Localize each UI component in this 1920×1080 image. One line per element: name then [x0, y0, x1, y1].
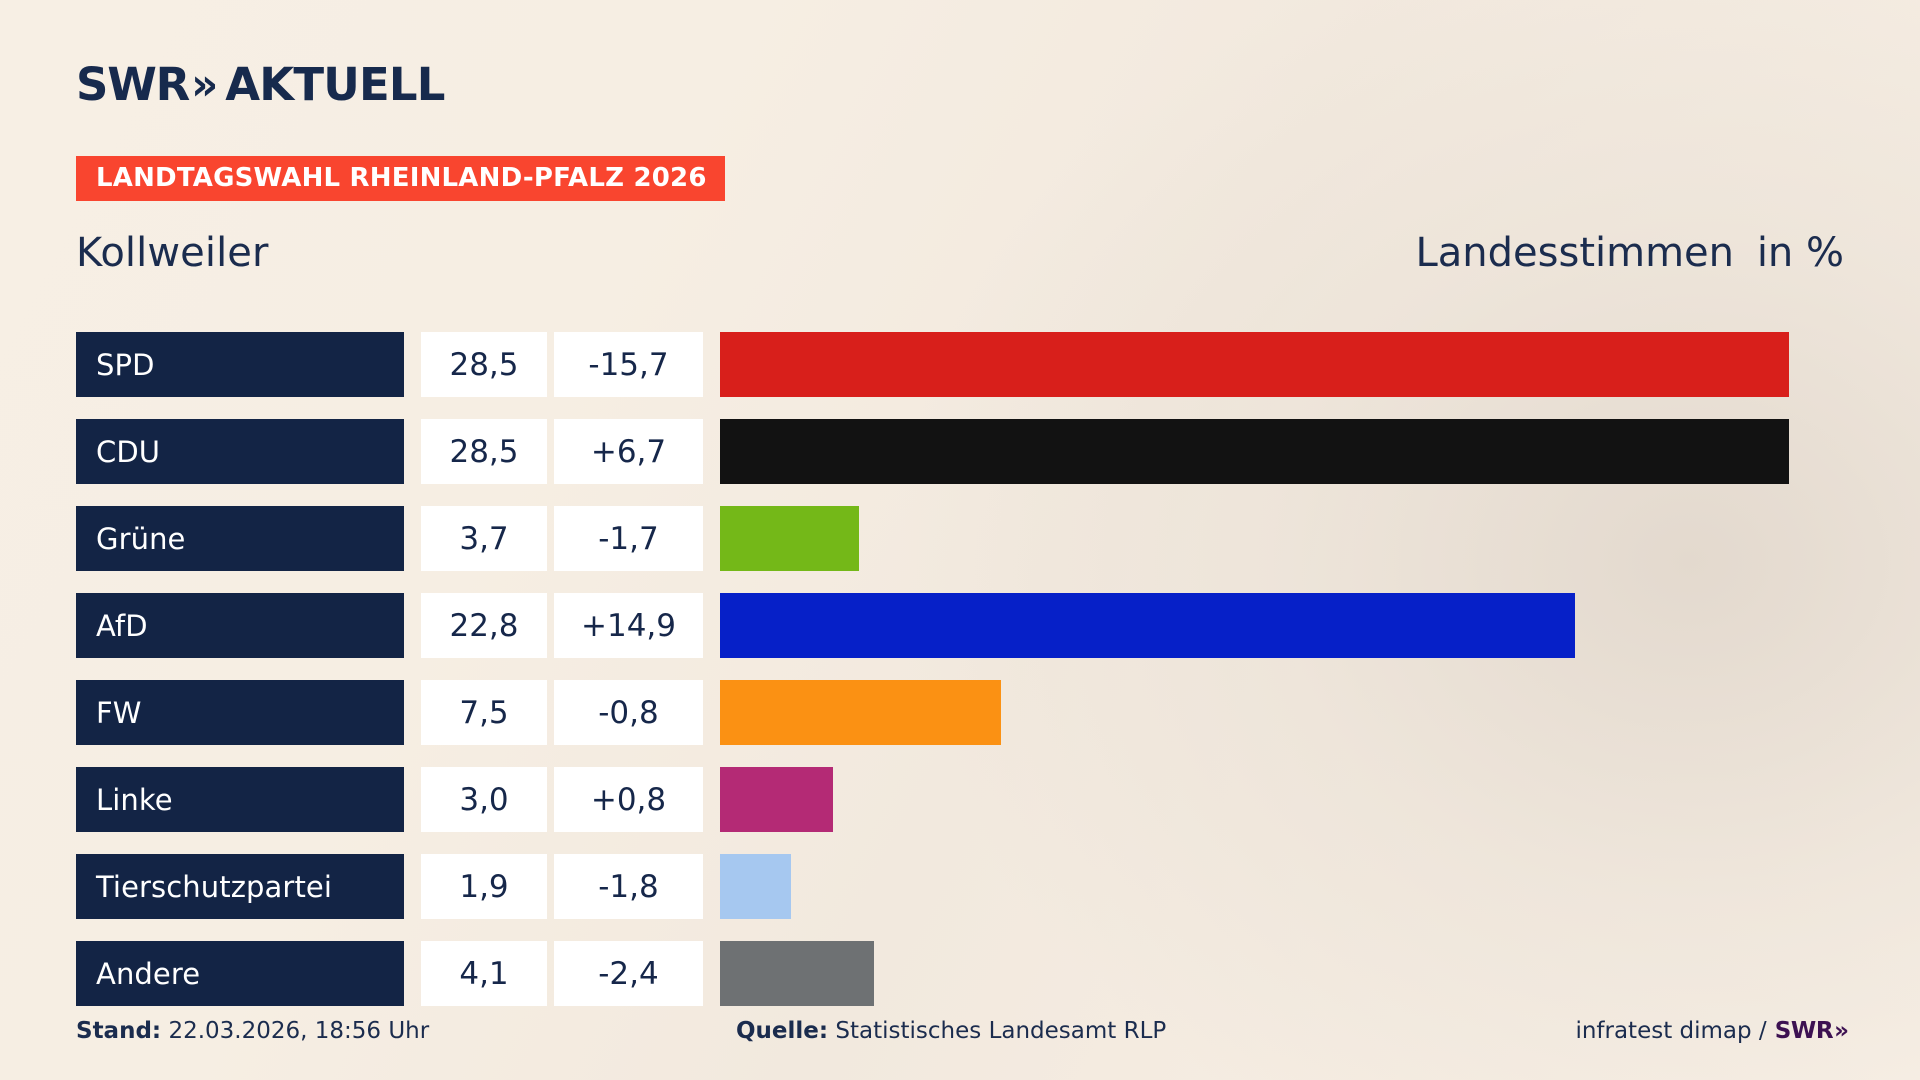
table-row: Tierschutzpartei1,9-1,8	[76, 854, 1920, 919]
aktuell-wordmark: AKTUELL	[225, 62, 444, 107]
vote-type-label: Landesstimmen	[1415, 226, 1734, 280]
party-bar	[720, 941, 874, 1006]
bar-track	[720, 593, 1920, 658]
unit-label: in %	[1757, 226, 1844, 280]
election-banner: LANDTAGSWAHL RHEINLAND-PFALZ 2026	[76, 156, 725, 201]
table-row: SPD28,5-15,7	[76, 332, 1920, 397]
credit-agency: infratest dimap /	[1575, 1018, 1766, 1044]
bar-track	[720, 680, 1920, 745]
double-chevron-icon: »	[191, 62, 211, 106]
party-share-value: 3,0	[421, 767, 547, 832]
table-row: Andere4,1-2,4	[76, 941, 1920, 1006]
quelle-label: Quelle:	[736, 1018, 828, 1044]
results-table: SPD28,5-15,7CDU28,5+6,7Grüne3,7-1,7AfD22…	[76, 332, 1920, 1006]
footer: Stand: 22.03.2026, 18:56 Uhr Quelle: Sta…	[76, 1018, 1844, 1052]
party-change-value: -1,8	[554, 854, 703, 919]
credit-swr-text: SWR	[1775, 1018, 1833, 1044]
table-row: FW7,5-0,8	[76, 680, 1920, 745]
party-bar	[720, 680, 1001, 745]
bar-track	[720, 854, 1920, 919]
subheader: Kollweiler Landesstimmen in %	[76, 226, 1844, 288]
party-bar	[720, 332, 1789, 397]
stand-value: 22.03.2026, 18:56 Uhr	[168, 1018, 429, 1044]
party-bar	[720, 767, 833, 832]
party-bar	[720, 419, 1789, 484]
bar-track	[720, 941, 1920, 1006]
quelle-info: Quelle: Statistisches Landesamt RLP	[736, 1018, 1166, 1044]
credit-swr-logo: SWR»	[1775, 1018, 1844, 1044]
party-name: Andere	[76, 941, 404, 1006]
party-name: SPD	[76, 332, 404, 397]
party-name: Tierschutzpartei	[76, 854, 404, 919]
party-share-value: 3,7	[421, 506, 547, 571]
party-share-value: 7,5	[421, 680, 547, 745]
party-name: FW	[76, 680, 404, 745]
stand-info: Stand: 22.03.2026, 18:56 Uhr	[76, 1018, 429, 1044]
party-share-value: 4,1	[421, 941, 547, 1006]
table-row: AfD22,8+14,9	[76, 593, 1920, 658]
infographic-stage: SWR » AKTUELL LANDTAGSWAHL RHEINLAND-PFA…	[0, 0, 1920, 1080]
party-change-value: +0,8	[554, 767, 703, 832]
party-change-value: +14,9	[554, 593, 703, 658]
party-change-value: +6,7	[554, 419, 703, 484]
bar-track	[720, 506, 1920, 571]
party-change-value: -1,7	[554, 506, 703, 571]
swr-aktuell-logo: SWR » AKTUELL	[76, 62, 445, 107]
quelle-value: Statistisches Landesamt RLP	[835, 1018, 1166, 1044]
table-row: CDU28,5+6,7	[76, 419, 1920, 484]
place-name: Kollweiler	[76, 226, 269, 280]
credit-chevron-icon: »	[1834, 1018, 1844, 1044]
table-row: Linke3,0+0,8	[76, 767, 1920, 832]
party-share-value: 28,5	[421, 419, 547, 484]
party-name: Linke	[76, 767, 404, 832]
party-bar	[720, 506, 859, 571]
party-share-value: 22,8	[421, 593, 547, 658]
credit: infratest dimap / SWR»	[1575, 1018, 1844, 1044]
bar-track	[720, 332, 1920, 397]
party-change-value: -15,7	[554, 332, 703, 397]
party-share-value: 1,9	[421, 854, 547, 919]
stand-label: Stand:	[76, 1018, 161, 1044]
party-name: Grüne	[76, 506, 404, 571]
bar-track	[720, 767, 1920, 832]
party-share-value: 28,5	[421, 332, 547, 397]
table-row: Grüne3,7-1,7	[76, 506, 1920, 571]
party-bar	[720, 593, 1575, 658]
party-change-value: -0,8	[554, 680, 703, 745]
party-name: AfD	[76, 593, 404, 658]
swr-wordmark: SWR	[76, 62, 189, 107]
party-name: CDU	[76, 419, 404, 484]
party-change-value: -2,4	[554, 941, 703, 1006]
party-bar	[720, 854, 791, 919]
bar-track	[720, 419, 1920, 484]
